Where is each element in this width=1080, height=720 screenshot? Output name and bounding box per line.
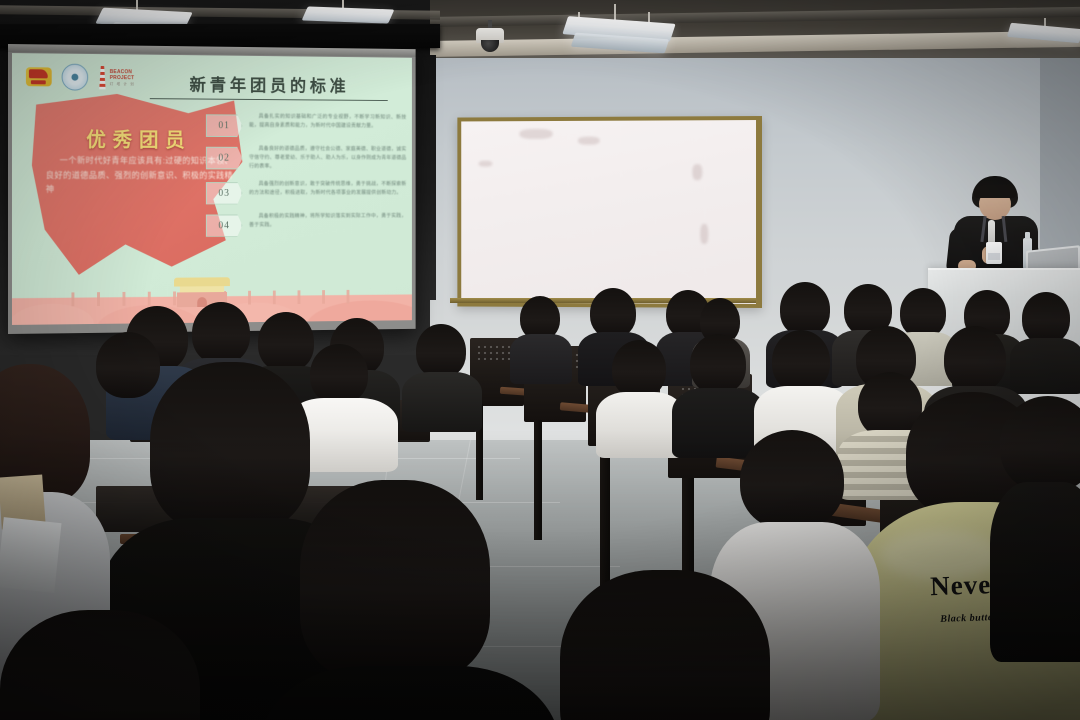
beacon-line1: BEACON (110, 69, 135, 75)
beacon-project-logo-icon: BEACON PROJECT 灯 塔 计 划 (98, 65, 135, 89)
point-number: 03 (206, 182, 242, 205)
point-number: 02 (206, 147, 242, 170)
point-number: 01 (206, 114, 242, 137)
beacon-line3: 灯 塔 计 划 (110, 80, 135, 86)
youth-league-badge-icon (26, 67, 52, 86)
list-item: 02 具备良好的道德品质，遵守社会公德、家庭美德、职业道德，诚实守信守约、尊老爱… (206, 145, 406, 172)
point-number: 04 (206, 214, 242, 237)
university-seal-icon (62, 64, 89, 91)
id-badge (986, 242, 1002, 264)
slide-title: 新青年团员的标准 (150, 70, 388, 101)
beacon-line2: PROJECT (110, 75, 135, 81)
presentation-slide: BEACON PROJECT 灯 塔 计 划 新青年团员的标准 优秀团员 一个新… (12, 53, 412, 325)
flag-body-text: 一个新时代好青年应该具有:过硬的知识本领、良好的道德品质、强烈的创新意识、积极的… (46, 153, 233, 196)
list-item: 01 具备扎实的知识基础和广泛的专业视野，不断学习新知识、新技能，提高自身素质和… (206, 112, 406, 137)
lecture-hall-photo: BEACON PROJECT 灯 塔 计 划 新青年团员的标准 优秀团员 一个新… (0, 0, 1080, 720)
point-text: 具备良好的道德品质，遵守社会公德、家庭美德、职业道德，诚实守信守约、尊老爱幼、乐… (249, 145, 406, 172)
whiteboard (457, 116, 762, 308)
list-item: 04 具备积极的实践精神，将所学知识落实到实际工作中，勇于实践，善于实践。 (206, 212, 406, 237)
paper-sheet (0, 517, 61, 593)
flag-heading: 优秀团员 (56, 123, 222, 152)
point-text: 具备扎实的知识基础和广泛的专业视野，不断学习新知识、新技能，提高自身素质和能力，… (249, 113, 406, 138)
slide-points-list: 01 具备扎实的知识基础和广泛的专业视野，不断学习新知识、新技能，提高自身素质和… (206, 112, 406, 244)
security-camera-icon (476, 28, 504, 52)
list-item: 03 具备强烈的创新意识，敢于突破传统思维，勇于挑战，不断探索新的方法和途径，积… (206, 180, 406, 205)
slide-logo-row: BEACON PROJECT 灯 塔 计 划 (26, 63, 135, 91)
projection-screen: BEACON PROJECT 灯 塔 计 划 新青年团员的标准 优秀团员 一个新… (8, 44, 416, 334)
point-text: 具备积极的实践精神，将所学知识落实到实际工作中，勇于实践，善于实践。 (249, 212, 406, 237)
point-text: 具备强烈的创新意识，敢于突破传统思维，勇于挑战，不断探索新的方法和途径，积极进取… (249, 180, 406, 204)
